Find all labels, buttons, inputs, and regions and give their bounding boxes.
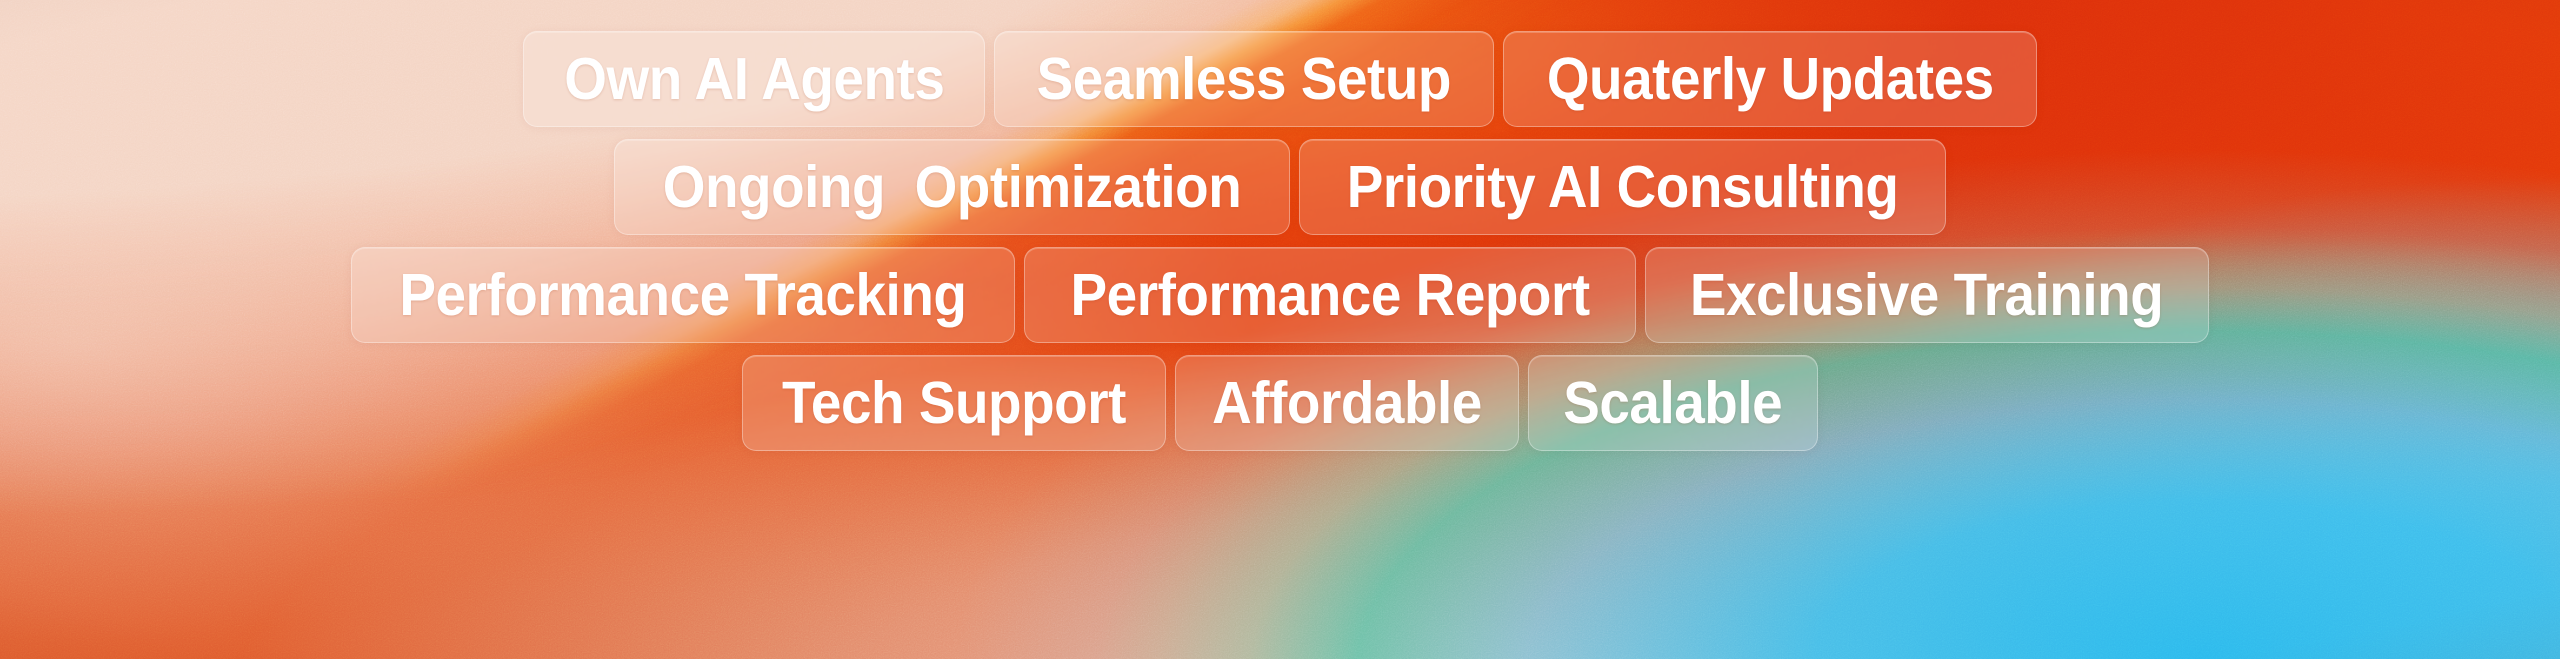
feature-pill-label: Scalable [1563, 374, 1782, 433]
pill-row: Own AI AgentsSeamless SetupQuaterly Upda… [523, 31, 2038, 127]
pill-rows-container: Own AI AgentsSeamless SetupQuaterly Upda… [0, 0, 2560, 659]
feature-pill-label: Affordable [1212, 374, 1482, 433]
feature-pill-label: Own AI Agents [564, 50, 944, 109]
feature-pill-label: Quaterly Updates [1547, 50, 1994, 109]
feature-pill[interactable]: Priority AI Consulting [1299, 139, 1946, 235]
feature-pill[interactable]: Performance Tracking [351, 247, 1015, 343]
feature-pill[interactable]: Affordable [1175, 355, 1519, 451]
pill-row: Tech SupportAffordableScalable [742, 355, 1817, 451]
feature-pill[interactable]: Quaterly Updates [1503, 31, 2038, 127]
feature-pill-label: Seamless Setup [1037, 50, 1451, 109]
feature-pill-label: Performance Report [1071, 266, 1590, 325]
feature-pill[interactable]: Seamless Setup [994, 31, 1494, 127]
feature-pill[interactable]: Performance Report [1024, 247, 1636, 343]
feature-pills-banner: Own AI AgentsSeamless SetupQuaterly Upda… [0, 0, 2560, 659]
feature-pill-label: Ongoing Optimization [663, 158, 1241, 217]
feature-pill[interactable]: Tech Support [742, 355, 1166, 451]
feature-pill-label: Priority AI Consulting [1347, 158, 1899, 217]
feature-pill[interactable]: Ongoing Optimization [614, 139, 1290, 235]
feature-pill[interactable]: Exclusive Training [1645, 247, 2208, 343]
feature-pill-label: Tech Support [782, 374, 1126, 433]
pill-row: Performance TrackingPerformance ReportEx… [351, 247, 2208, 343]
feature-pill[interactable]: Scalable [1528, 355, 1817, 451]
feature-pill-label: Performance Tracking [400, 266, 967, 325]
pill-row: Ongoing OptimizationPriority AI Consulti… [614, 139, 1946, 235]
feature-pill[interactable]: Own AI Agents [523, 31, 986, 127]
feature-pill-label: Exclusive Training [1690, 266, 2163, 325]
